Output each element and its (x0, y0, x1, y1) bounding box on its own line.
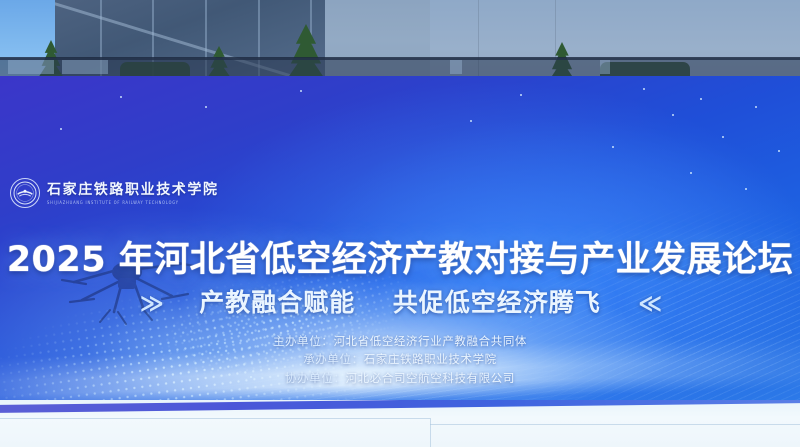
organizer-value: 石家庄铁路职业技术学院 (364, 352, 497, 366)
railing-gap (8, 60, 54, 74)
right-chevron-icon: ≪ (638, 291, 660, 317)
floor-area (0, 400, 800, 447)
organizer-label: 承办单位： (303, 352, 364, 366)
organizer-label: 协办单位： (285, 371, 346, 385)
subtitle-part-2: 共促低空经济腾飞 (393, 288, 601, 317)
organizer-label: 主办单位： (273, 334, 334, 348)
screenshot-root: 石家庄铁路职业技术学院 SHIJIAZHUANG INSTITUTE OF RA… (0, 0, 800, 447)
organizer-row: 主办单位：河北省低空经济行业产教融合共同体 (273, 334, 527, 348)
subtitle-part-1: 产教融合赋能 (199, 288, 355, 317)
floor-seam (430, 424, 800, 425)
railing (0, 58, 800, 76)
conference-banner: 石家庄铁路职业技术学院 SHIJIAZHUANG INSTITUTE OF RA… (0, 76, 800, 406)
university-crest-emblem (10, 178, 40, 208)
railing-gap (600, 60, 610, 74)
railing-gap (450, 60, 462, 74)
banner-base-edge (0, 400, 800, 413)
railing-gap (62, 60, 108, 74)
banner-subtitle: ≫ 产教融合赋能 共促低空经济腾飞 ≪ (0, 283, 800, 319)
organizer-value: 河北必合司空航空科技有限公司 (346, 371, 515, 385)
university-name-block: 石家庄铁路职业技术学院 SHIJIAZHUANG INSTITUTE OF RA… (47, 182, 219, 204)
organizer-row: 协办单位：河北必合司空航空科技有限公司 (285, 371, 515, 385)
left-chevron-icon: ≫ (140, 291, 162, 317)
organizer-value: 河北省低空经济行业产教融合共同体 (333, 334, 527, 348)
floor-seam (0, 418, 430, 419)
organizer-list: 主办单位：河北省低空经济行业产教融合共同体 承办单位：石家庄铁路职业技术学院 协… (0, 334, 800, 385)
floor-seam (430, 418, 431, 447)
university-name-en: SHIJIAZHUANG INSTITUTE OF RAILWAY TECHNO… (47, 200, 219, 205)
university-logo: 石家庄铁路职业技术学院 SHIJIAZHUANG INSTITUTE OF RA… (10, 178, 219, 208)
banner-title: 2025 年河北省低空经济产教对接与产业发展论坛 (0, 231, 800, 282)
university-name-cn: 石家庄铁路职业技术学院 (47, 182, 219, 198)
organizer-row: 承办单位：石家庄铁路职业技术学院 (303, 352, 497, 366)
